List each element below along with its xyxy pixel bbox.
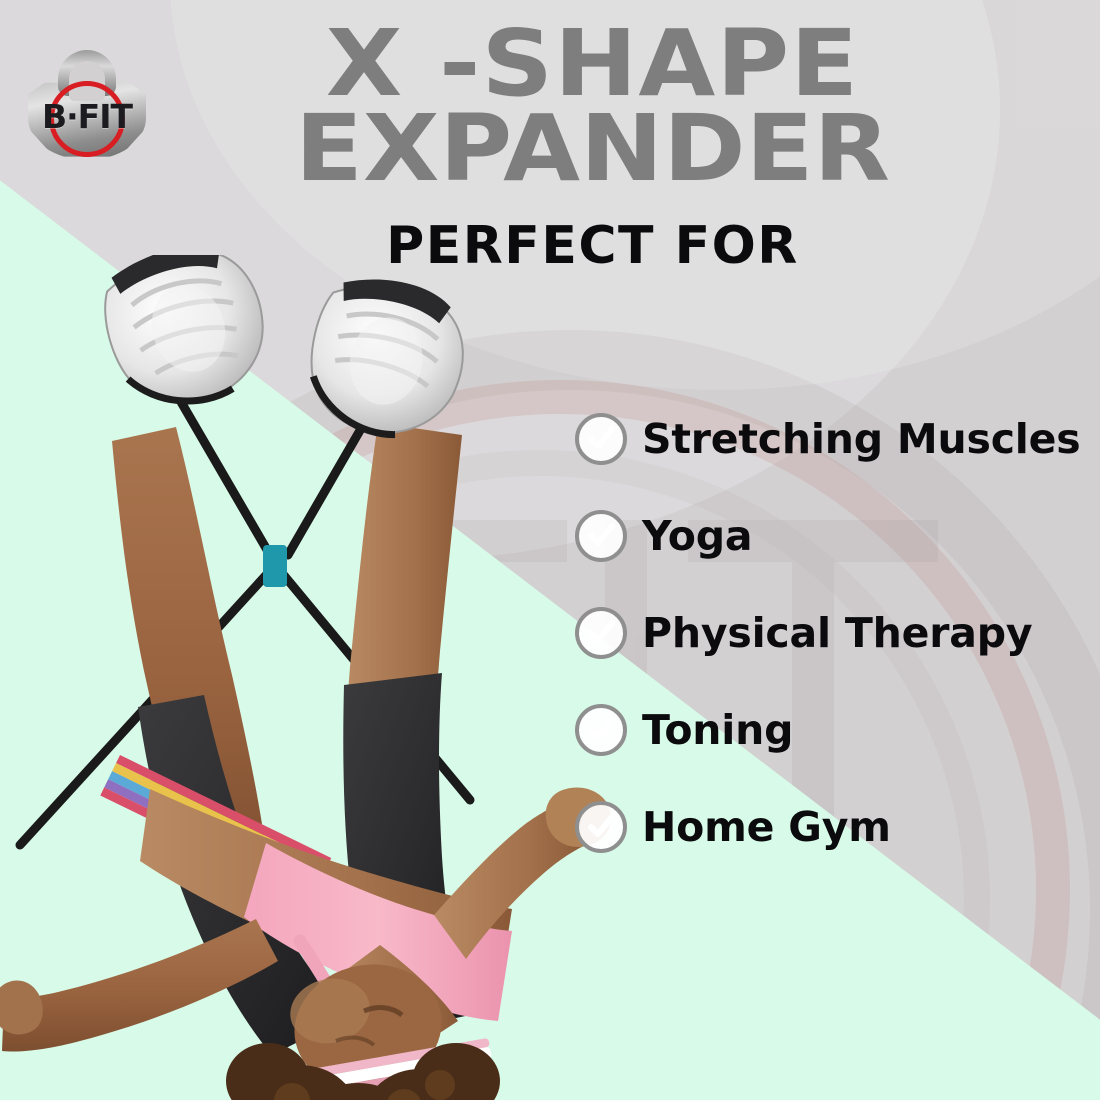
title-line-2: EXPANDER xyxy=(239,107,946,192)
check-circle-icon xyxy=(575,510,627,562)
check-circle-icon xyxy=(575,413,627,465)
benefit-label: Physical Therapy xyxy=(642,609,1032,657)
band-connector xyxy=(263,545,287,587)
check-circle-icon xyxy=(575,704,627,756)
page-title: X -SHAPE EXPANDER xyxy=(265,22,920,191)
list-item: Stretching Muscles xyxy=(575,390,1075,487)
logo-text: B·FIT xyxy=(26,100,148,133)
benefit-label: Stretching Muscles xyxy=(642,415,1080,463)
product-poster: B·FIT X -SHAPE EXPANDER PERFECT FOR xyxy=(0,0,1100,1100)
list-item: Physical Therapy xyxy=(575,584,1075,681)
benefits-list: Stretching Muscles Yoga Physical Therapy xyxy=(575,390,1075,875)
brand-logo: B·FIT xyxy=(22,48,152,166)
benefit-label: Toning xyxy=(642,706,793,754)
benefit-label: Home Gym xyxy=(642,803,891,851)
check-circle-icon xyxy=(575,607,627,659)
check-circle-icon xyxy=(575,801,627,853)
athlete-photo xyxy=(0,255,640,1100)
list-item: Toning xyxy=(575,681,1075,778)
benefit-label: Yoga xyxy=(642,512,752,560)
list-item: Home Gym xyxy=(575,778,1075,875)
list-item: Yoga xyxy=(575,487,1075,584)
